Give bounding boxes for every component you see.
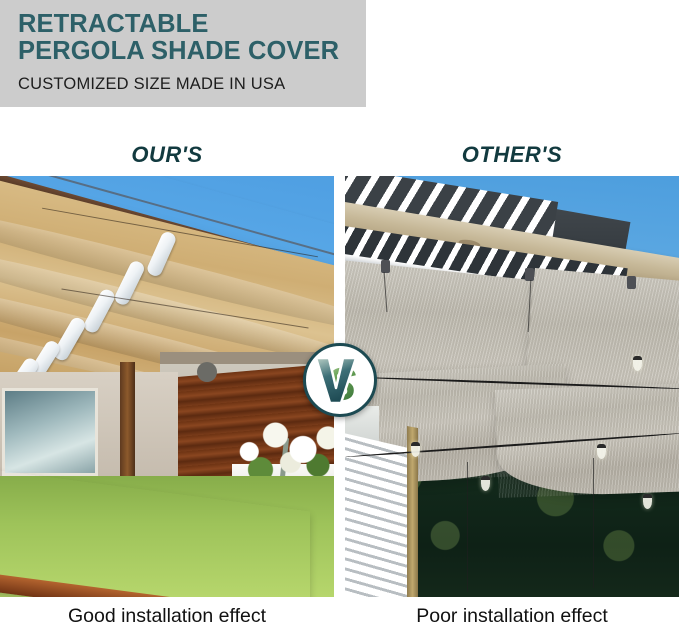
light-bulb bbox=[597, 444, 606, 459]
hanging-cord bbox=[593, 458, 594, 588]
photo-panel-others bbox=[345, 176, 679, 597]
satellite-dish bbox=[197, 362, 217, 382]
caption-others: Poor installation effect bbox=[345, 601, 679, 631]
light-bulb bbox=[643, 494, 652, 509]
light-bulb bbox=[633, 356, 642, 371]
vs-logo-icon: S bbox=[311, 355, 369, 405]
photo-others bbox=[345, 176, 679, 597]
caption-ours: Good installation effect bbox=[0, 601, 334, 631]
cloth-clip bbox=[381, 260, 390, 273]
photo-ours bbox=[0, 176, 334, 597]
column-heading-ours: OUR'S bbox=[0, 140, 334, 170]
vs-badge: S bbox=[303, 343, 377, 417]
flowering-tree bbox=[218, 412, 334, 484]
light-bulb bbox=[481, 476, 490, 491]
hanging-cord bbox=[467, 462, 468, 592]
column-heading-others: OTHER'S bbox=[345, 140, 679, 170]
light-bulb bbox=[411, 442, 420, 457]
cloth-clip bbox=[627, 276, 636, 289]
photo-panel-ours bbox=[0, 176, 334, 597]
page-title: RETRACTABLE PERGOLA SHADE COVER bbox=[18, 11, 366, 65]
louvered-shutter bbox=[345, 432, 413, 597]
page-subtitle: CUSTOMIZED SIZE MADE IN USA bbox=[18, 74, 366, 94]
header-banner: RETRACTABLE PERGOLA SHADE COVER CUSTOMIZ… bbox=[0, 0, 366, 107]
glass-door bbox=[2, 388, 98, 476]
